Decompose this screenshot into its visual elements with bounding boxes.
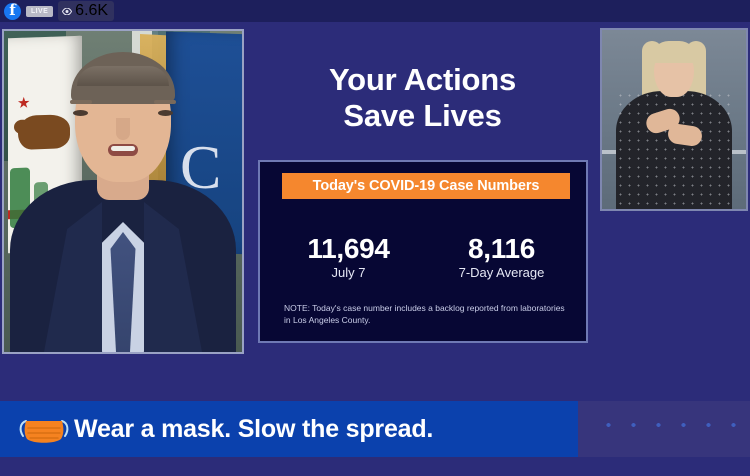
main-speaker-video[interactable]: C ★ xyxy=(2,29,244,354)
asl-interpreter-video[interactable] xyxy=(600,28,748,211)
speaker-figure xyxy=(8,52,238,352)
interpreter-hair-top xyxy=(651,41,697,63)
speaker-brow-right xyxy=(154,100,176,104)
stream-overlay-bar: LIVE 6.6K xyxy=(0,0,750,22)
banner-message: Wear a mask. Slow the spread. xyxy=(74,401,433,457)
headline-line-2: Save Lives xyxy=(250,98,595,134)
speaker-hair xyxy=(71,52,175,104)
viewer-count-badge[interactable]: 6.6K xyxy=(58,1,114,21)
live-badge: LIVE xyxy=(26,6,53,17)
stat-average-value: 8,116 xyxy=(425,234,578,263)
livestream-screen: LIVE 6.6K C ★ xyxy=(0,0,750,476)
slide-headline: Your Actions Save Lives xyxy=(250,62,595,134)
viewer-count-label: 6.6K xyxy=(75,3,108,19)
facebook-icon[interactable] xyxy=(4,3,21,20)
speaker-mouth xyxy=(108,144,138,156)
face-mask-icon xyxy=(18,413,70,447)
banner-dot-pattern xyxy=(578,401,750,457)
speaker-eye-right xyxy=(158,110,173,116)
speaker-brow-left xyxy=(70,100,92,104)
stats-row: 11,694 July 7 8,116 7-Day Average xyxy=(272,234,578,280)
card-note: NOTE: Today's case number includes a bac… xyxy=(284,302,568,327)
stat-average: 8,116 7-Day Average xyxy=(425,234,578,280)
main-video-frame: C ★ xyxy=(4,31,242,352)
banner-blue-block xyxy=(494,401,578,457)
card-banner-label: Today's COVID-19 Case Numbers xyxy=(282,173,570,199)
eye-icon xyxy=(62,8,72,15)
speaker-eye-left xyxy=(73,110,88,116)
stat-today-value: 11,694 xyxy=(272,234,425,263)
stat-today: 11,694 July 7 xyxy=(272,234,425,280)
headline-line-1: Your Actions xyxy=(250,62,595,98)
case-numbers-card: Today's COVID-19 Case Numbers 11,694 Jul… xyxy=(258,160,588,343)
facebook-live-overlay: LIVE 6.6K xyxy=(4,2,114,20)
stat-today-label: July 7 xyxy=(272,265,425,280)
stat-average-label: 7-Day Average xyxy=(425,265,578,280)
speaker-nose xyxy=(116,118,130,140)
public-health-banner: Wear a mask. Slow the spread. xyxy=(0,401,750,457)
